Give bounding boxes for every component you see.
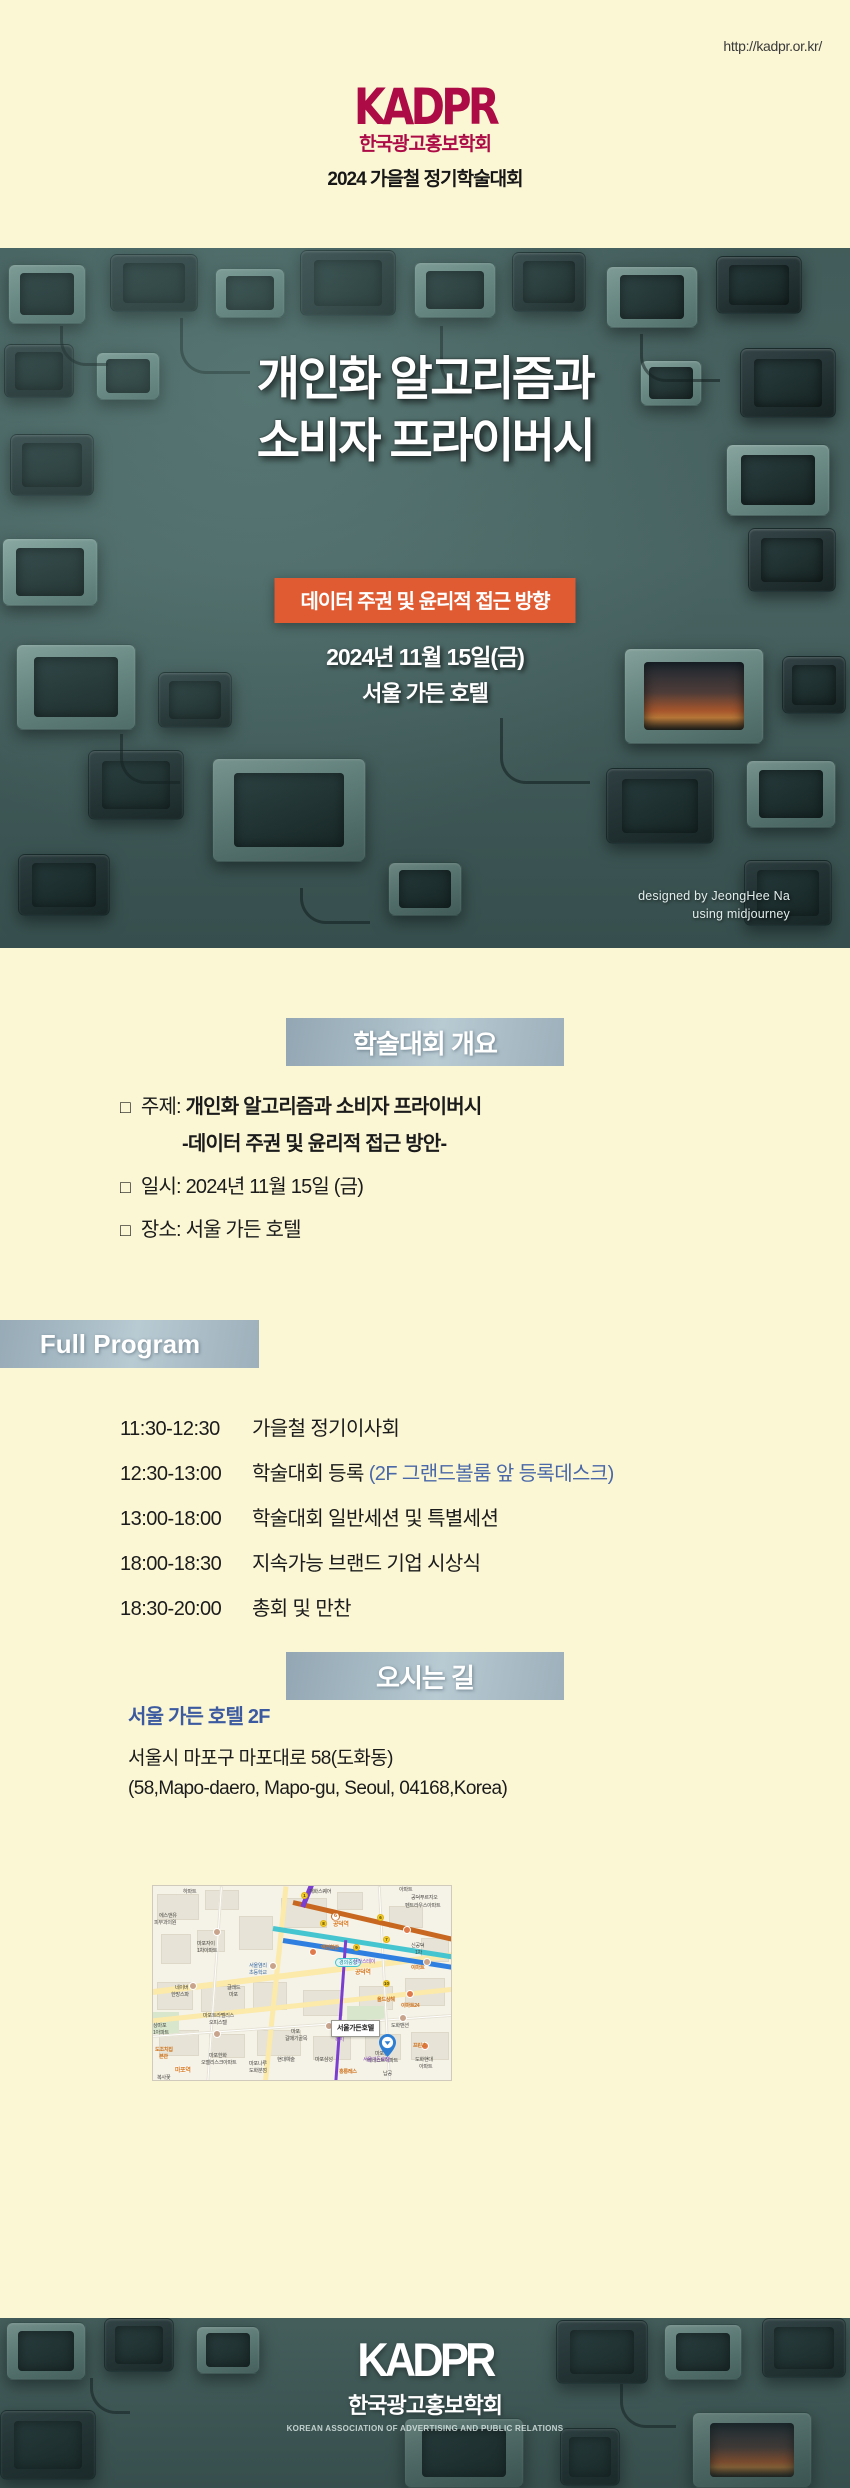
checkbox-icon: □ — [120, 1220, 130, 1240]
map-num-badge-8: 8 — [320, 1920, 327, 1927]
overview-label-subject: 주제: — [141, 1096, 181, 1118]
design-credit: designed by JeongHee Na using midjourney — [638, 887, 790, 923]
location-map[interactable]: 경의중앙 6 1 8 9 6 7 10 하파트 재화스퀘어 아파트 공덕푸르지오… — [152, 1885, 452, 2081]
section-heading-directions: 오시는 길 — [286, 1652, 564, 1700]
map-label: 복사꽃 — [157, 2076, 170, 2081]
map-label: 오벨리스크아파트 — [201, 2061, 236, 2067]
hero-date-text: 2024년 11월 15일(금) — [0, 638, 850, 672]
directions-address-en: (58,Mapo-daero, Mapo-gu, Seoul, 04168,Ko… — [128, 1778, 507, 1800]
map-label: 납공 — [383, 2072, 392, 2078]
map-location-pin[interactable] — [379, 2034, 396, 2057]
directions-address-kr: 서울시 마포구 마포대로 58(도화동) — [128, 1743, 507, 1770]
map-label: 프린츠 — [413, 2044, 426, 2050]
program-row: 12:30-13:00학술대회 등록 (2F 그랜드볼룸 앞 등록데스크) — [120, 1457, 614, 1486]
map-label: 공덕푸르지오 — [411, 1896, 438, 1902]
hero-subtitle-text: 데이터 주권 및 윤리적 접근 방향 — [301, 591, 550, 613]
website-url[interactable]: http://kadpr.or.kr/ — [723, 38, 822, 54]
overview-value-date: 2024년 11월 15일 (금) — [186, 1176, 364, 1198]
hero-venue-text: 서울 가든 호텔 — [0, 676, 850, 708]
hero-subtitle-ribbon: 데이터 주권 및 윤리적 접근 방향 — [275, 578, 576, 623]
section-heading-program: Full Program — [0, 1320, 259, 1368]
program-time: 18:30-20:00 — [120, 1598, 252, 1621]
map-label: 신라스테이 — [353, 1960, 375, 1966]
overview-value-venue: 서울 가든 호텔 — [186, 1219, 301, 1241]
footer-organization-name-kr: 한국광고홍보학회 — [0, 2388, 850, 2420]
directions-venue: 서울 가든 호텔 2F — [128, 1700, 507, 1729]
overview-row-date: □ 일시: 2024년 11월 15일 (금) — [120, 1170, 481, 1199]
map-label: 홍룡레스 — [339, 2070, 357, 2076]
footer-logo: KADPR 한국광고홍보학회 KOREAN ASSOCIATION OF ADV… — [0, 2336, 850, 2433]
checkbox-icon: □ — [120, 1177, 130, 1197]
section-heading-directions-label: 오시는 길 — [376, 1658, 474, 1695]
map-num-badge-9: 9 — [353, 1944, 360, 1951]
footer-kadpr-logo-text: KADPR — [34, 2336, 816, 2383]
map-label: 1차 — [415, 1951, 422, 1957]
map-label: 올드상해 — [377, 1998, 395, 2004]
hero-event-info: 2024년 11월 15일(금) 서울 가든 호텔 — [0, 638, 850, 708]
map-line-badge-6: 6 — [331, 1912, 340, 1921]
map-label: 이마트24 — [401, 2004, 419, 2010]
program-time: 13:00-18:00 — [120, 1508, 252, 1531]
map-station-label: 마포역 — [175, 2068, 191, 2075]
program-title: 지속가능 브랜드 기업 시상식 — [252, 1553, 480, 1575]
program-schedule: 11:30-12:30가을철 정기이사회 12:30-13:00학술대회 등록 … — [120, 1412, 614, 1637]
hero-banner: 개인화 알고리즘과 소비자 프라이버시 데이터 주권 및 윤리적 접근 방향 2… — [0, 248, 850, 948]
map-label: 아파트 — [419, 2065, 432, 2071]
hero-title: 개인화 알고리즘과 소비자 프라이버시 — [0, 348, 850, 472]
checkbox-icon: □ — [120, 1097, 130, 1117]
program-time: 18:00-18:30 — [120, 1553, 252, 1576]
map-label: 피부과의원 — [154, 1921, 176, 1927]
overview-list: □ 주제: 개인화 알고리즘과 소비자 프라이버시 -데이터 주권 및 윤리적 … — [120, 1090, 481, 1256]
section-heading-overview: 학술대회 개요 — [286, 1018, 564, 1066]
map-label: 오피스텔 — [209, 2021, 227, 2027]
map-label: 하파트 — [183, 1890, 196, 1896]
overview-row-venue: □ 장소: 서울 가든 호텔 — [120, 1213, 481, 1242]
map-num-badge-10: 10 — [383, 1980, 390, 1987]
map-station-label: 공덕역 — [355, 1970, 371, 1977]
map-label: 재화스퀘어 — [309, 1890, 331, 1896]
program-row: 18:00-18:30지속가능 브랜드 기업 시상식 — [120, 1547, 614, 1576]
map-label: 복지 — [335, 2038, 344, 2044]
program-title: 총회 및 만찬 — [252, 1598, 351, 1620]
map-label: 현대예술 — [277, 2058, 295, 2064]
section-heading-overview-label: 학술대회 개요 — [353, 1024, 497, 1061]
footer-organization-name-en: KOREAN ASSOCIATION OF ADVERTISING AND PU… — [0, 2424, 850, 2433]
program-time: 12:30-13:00 — [120, 1463, 252, 1486]
program-row: 18:30-20:00총회 및 만찬 — [120, 1592, 614, 1621]
program-row: 11:30-12:30가을철 정기이사회 — [120, 1412, 614, 1441]
conference-poster: http://kadpr.or.kr/ KADPR 한국광고홍보학회 2024 … — [0, 0, 850, 2488]
organization-name-kr: 한국광고홍보학회 — [0, 135, 850, 156]
map-label: 1아파트 — [153, 2031, 169, 2037]
program-row: 13:00-18:00학술대회 일반세션 및 특별세션 — [120, 1502, 614, 1531]
overview-row-subject: □ 주제: 개인화 알고리즘과 소비자 프라이버시 — [120, 1090, 481, 1119]
poster-footer: KADPR 한국광고홍보학회 KOREAN ASSOCIATION OF ADV… — [0, 2318, 850, 2488]
design-credit-line2: using midjourney — [638, 905, 790, 923]
map-hotel-pin-label: 서울가든호텔 — [363, 2058, 390, 2064]
directions-block: 서울 가든 호텔 2F 서울시 마포구 마포대로 58(도화동) (58,Map… — [128, 1700, 507, 1808]
overview-subject-second-line: -데이터 주권 및 윤리적 접근 방안- — [182, 1127, 481, 1156]
map-label: 초등학교 — [249, 1971, 267, 1977]
kadpr-logo-text: KADPR — [34, 82, 816, 132]
program-title: 가을철 정기이사회 — [252, 1418, 399, 1440]
overview-label-venue: 장소: — [141, 1219, 181, 1241]
program-title: 학술대회 등록 — [252, 1463, 364, 1485]
map-num-badge-1: 1 — [301, 1892, 308, 1899]
section-heading-program-label: Full Program — [40, 1329, 200, 1360]
map-hotel-callout: 서울가든호텔 — [331, 2020, 380, 2037]
map-station-label: 공덕역 — [333, 1922, 349, 1929]
map-label: 한방스파 — [171, 1993, 189, 1999]
map-label: 역전회관 — [321, 1946, 339, 1952]
program-title: 학술대회 일반세션 및 특별세션 — [252, 1508, 498, 1530]
program-note: (2F 그랜드볼룸 앞 등록데스크) — [369, 1463, 614, 1485]
event-subtitle: 2024 가을철 정기학술대회 — [0, 164, 850, 191]
map-label: 도화맨션 — [391, 2024, 409, 2030]
map-label: 본관 — [159, 2055, 168, 2061]
map-label: 아파트 — [399, 1888, 412, 1894]
map-label: 도화분점 — [249, 2069, 267, 2075]
map-label: 펜트라우스아파트 — [405, 1904, 440, 1910]
poster-header: KADPR 한국광고홍보학회 2024 가을철 정기학술대회 — [0, 82, 850, 191]
map-label: 마포삼성 — [315, 2058, 333, 2064]
map-label: 이마트 — [411, 1966, 424, 1972]
overview-value-subject: 개인화 알고리즘과 소비자 프라이버시 — [186, 1096, 482, 1118]
map-label: 갈매기골목 — [285, 2037, 307, 2043]
map-num-badge-7: 7 — [383, 1936, 390, 1943]
design-credit-line1: designed by JeongHee Na — [638, 887, 790, 905]
overview-label-date: 일시: — [141, 1176, 181, 1198]
hero-title-line1: 개인화 알고리즘과 — [0, 348, 850, 410]
map-label: 마포 — [229, 1993, 238, 1999]
map-label: 1차아파트 — [197, 1949, 217, 1955]
map-num-badge-6: 6 — [377, 1914, 384, 1921]
hero-title-line2: 소비자 프라이버시 — [0, 410, 850, 472]
program-time: 11:30-12:30 — [120, 1418, 252, 1441]
